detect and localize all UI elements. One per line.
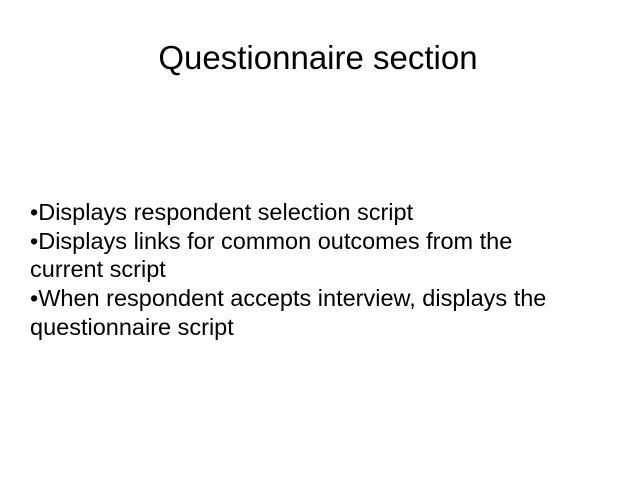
bullet-list: •Displays respondent selection script •D… [30, 198, 626, 342]
list-item-continuation: current script [30, 255, 626, 284]
slide-canvas: Questionnaire section •Displays responde… [0, 0, 640, 480]
list-item-continuation: questionnaire script [30, 313, 626, 342]
list-item: •When respondent accepts interview, disp… [30, 284, 626, 313]
list-item-label: Displays links for common outcomes from … [38, 228, 512, 254]
list-item-label: questionnaire script [30, 314, 234, 340]
bullet-icon: • [30, 285, 38, 311]
list-item-label: current script [30, 256, 166, 282]
list-item-label: When respondent accepts interview, displ… [38, 285, 546, 311]
list-item-label: Displays respondent selection script [38, 199, 413, 225]
list-item: •Displays respondent selection script [30, 198, 626, 227]
bullet-icon: • [30, 228, 38, 254]
bullet-icon: • [30, 199, 38, 225]
page-title: Questionnaire section [0, 38, 636, 78]
list-item: •Displays links for common outcomes from… [30, 227, 626, 256]
